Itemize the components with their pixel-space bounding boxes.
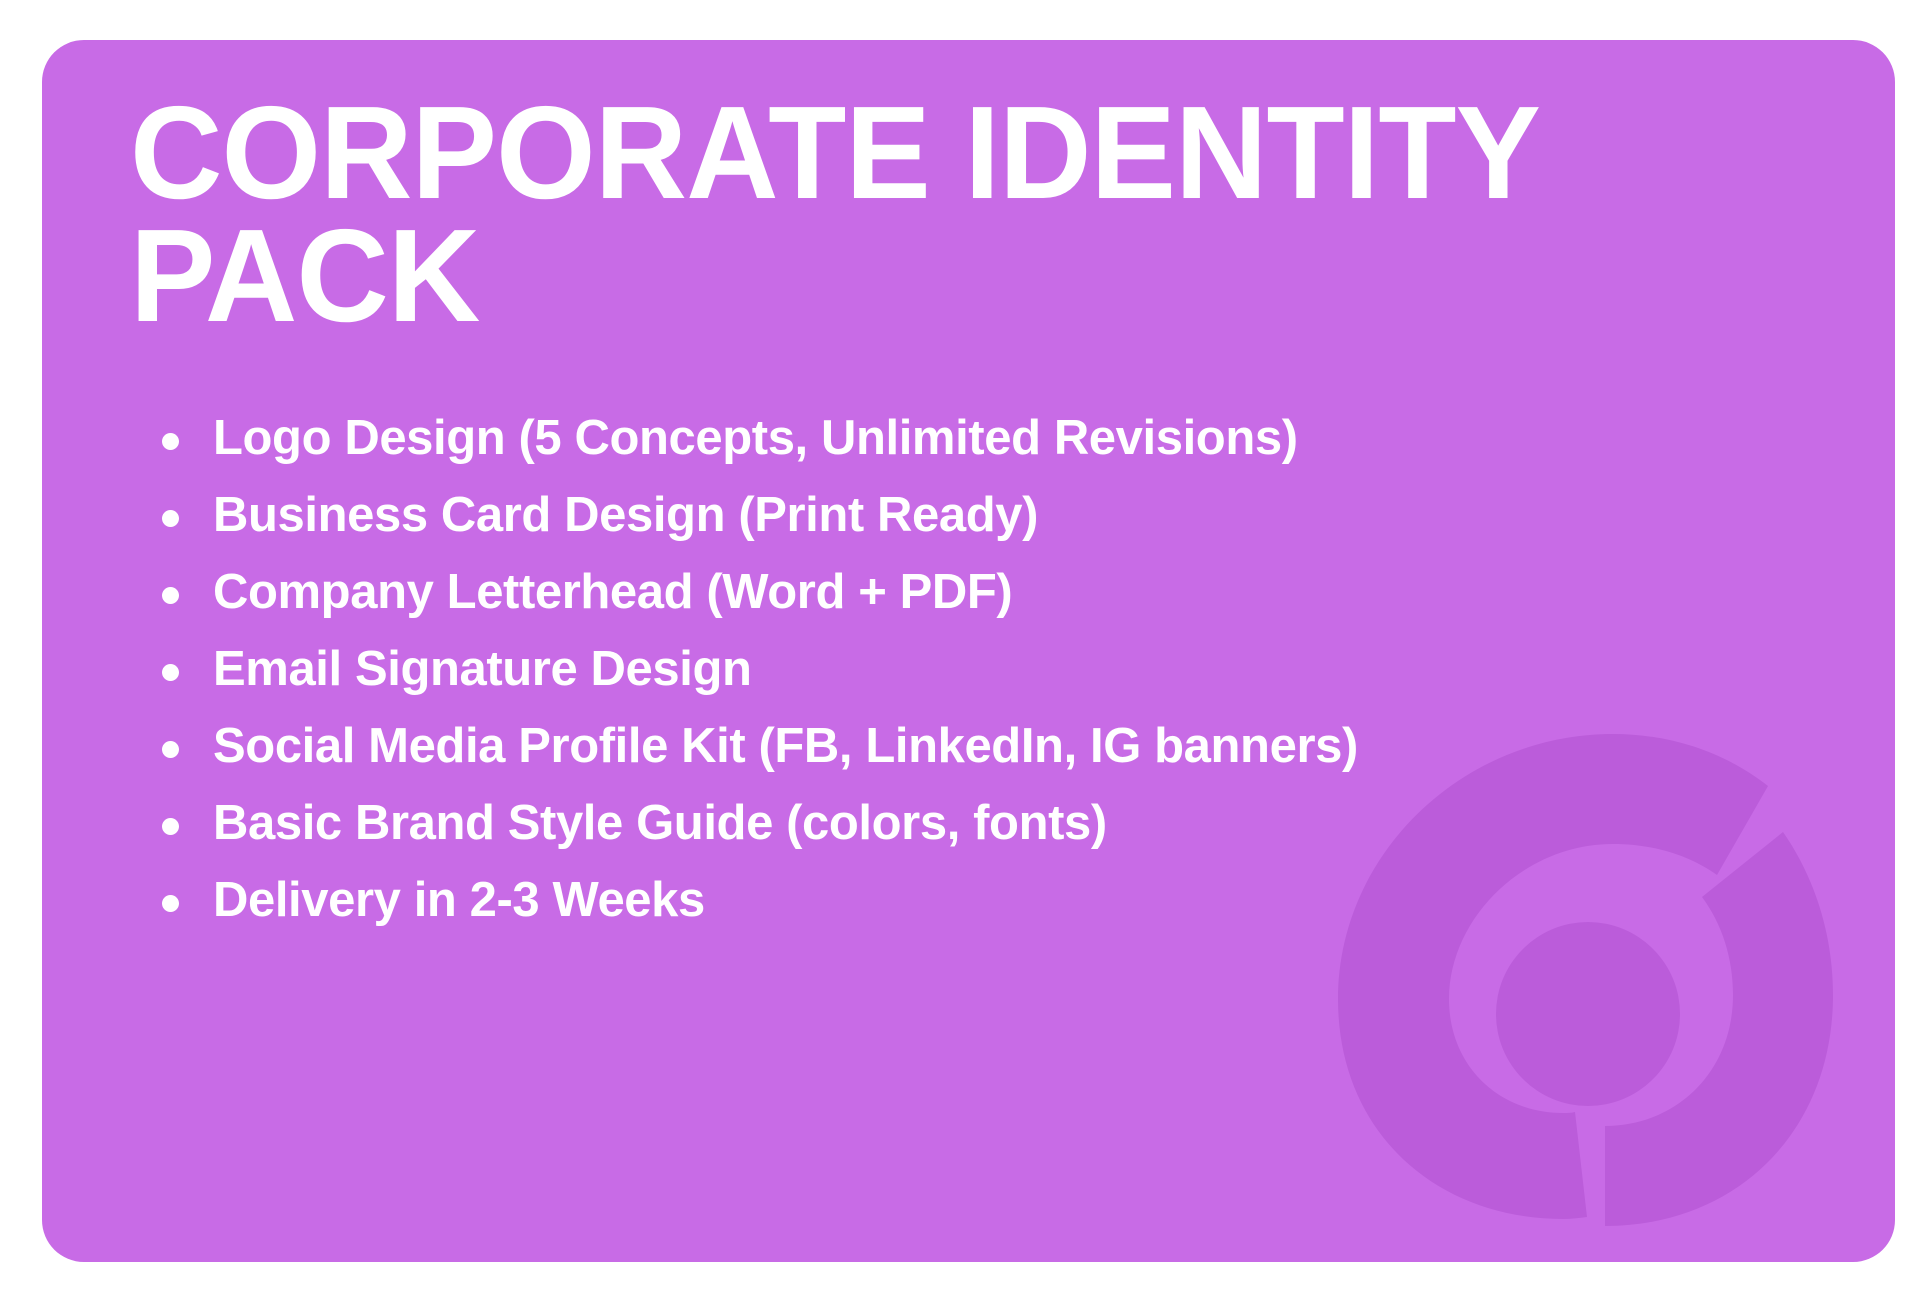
list-item: Logo Design (5 Concepts, Unlimited Revis… <box>130 414 1837 491</box>
list-item: Social Media Profile Kit (FB, LinkedIn, … <box>130 722 1837 799</box>
bullet-icon <box>162 433 179 450</box>
corporate-identity-pack-card: CORPORATE IDENTITY PACK Logo Design (5 C… <box>42 40 1895 1262</box>
list-item: Business Card Design (Print Ready) <box>130 491 1837 568</box>
bullet-icon <box>162 741 179 758</box>
page-root: CORPORATE IDENTITY PACK Logo Design (5 C… <box>0 0 1932 1300</box>
bullet-icon <box>162 664 179 681</box>
card-content: CORPORATE IDENTITY PACK Logo Design (5 C… <box>42 40 1895 953</box>
list-item-label: Company Letterhead (Word + PDF) <box>213 568 1837 617</box>
list-item-label: Logo Design (5 Concepts, Unlimited Revis… <box>213 414 1837 463</box>
list-item-label: Social Media Profile Kit (FB, LinkedIn, … <box>213 722 1837 771</box>
bullet-icon <box>162 510 179 527</box>
list-item-label: Email Signature Design <box>213 645 1837 694</box>
list-item: Basic Brand Style Guide (colors, fonts) <box>130 799 1837 876</box>
page-title: CORPORATE IDENTITY PACK <box>130 92 1585 338</box>
list-item-label: Basic Brand Style Guide (colors, fonts) <box>213 799 1837 848</box>
list-item-label: Business Card Design (Print Ready) <box>213 491 1837 540</box>
features-list: Logo Design (5 Concepts, Unlimited Revis… <box>130 414 1837 953</box>
list-item: Email Signature Design <box>130 645 1837 722</box>
list-item: Delivery in 2-3 Weeks <box>130 876 1837 953</box>
bullet-icon <box>162 895 179 912</box>
list-item: Company Letterhead (Word + PDF) <box>130 568 1837 645</box>
bullet-icon <box>162 818 179 835</box>
bullet-icon <box>162 587 179 604</box>
list-item-label: Delivery in 2-3 Weeks <box>213 876 1837 925</box>
